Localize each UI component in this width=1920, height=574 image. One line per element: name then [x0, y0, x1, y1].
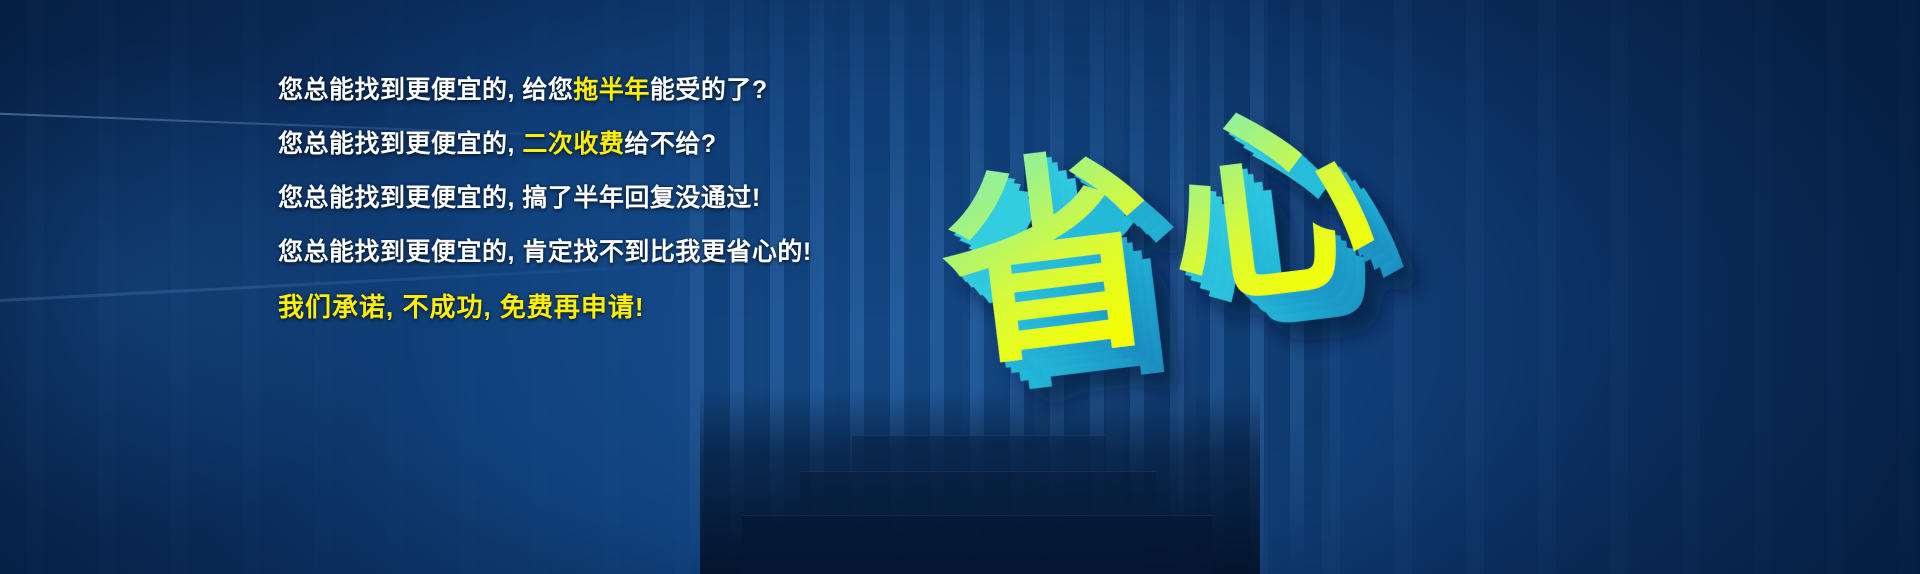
copy-line-3-prefix: 您总能找到更便宜的, 搞了半年回复没通过!: [278, 184, 761, 212]
copy-line-3: 您总能找到更便宜的, 搞了半年回复没通过!: [278, 186, 898, 211]
marketing-copy-block: 您总能找到更便宜的, 给您拖半年能受的了? 您总能找到更便宜的, 二次收费给不给…: [278, 78, 898, 320]
copy-line-1-prefix: 您总能找到更便宜的, 给您: [278, 76, 573, 104]
shengxin-artwork-svg: 省 心 省 心 省 心 省 心 省 心: [900, 60, 1420, 440]
copy-line-2-highlight: 二次收费: [522, 130, 624, 158]
copy-line-4-prefix: 您总能找到更便宜的, 肯定找不到比我更省心的!: [278, 238, 812, 266]
promise-line: 我们承诺, 不成功, 免费再申请!: [278, 294, 898, 320]
copy-line-4: 您总能找到更便宜的, 肯定找不到比我更省心的!: [278, 240, 898, 265]
shengxin-artwork: 省 心 省 心 省 心 省 心 省 心: [900, 60, 1420, 440]
copy-line-2-suffix: 给不给?: [624, 130, 716, 158]
shengxin-char-2: 心: [1154, 78, 1386, 339]
copy-line-1-suffix: 能受的了?: [650, 76, 768, 104]
promotional-banner: 您总能找到更便宜的, 给您拖半年能受的了? 您总能找到更便宜的, 二次收费给不给…: [0, 0, 1920, 574]
copy-line-1: 您总能找到更便宜的, 给您拖半年能受的了?: [278, 78, 898, 103]
shengxin-char-1: 省: [928, 123, 1172, 398]
copy-line-2-prefix: 您总能找到更便宜的,: [278, 130, 522, 158]
copy-line-1-highlight: 拖半年: [573, 76, 650, 104]
copy-line-2: 您总能找到更便宜的, 二次收费给不给?: [278, 132, 898, 157]
